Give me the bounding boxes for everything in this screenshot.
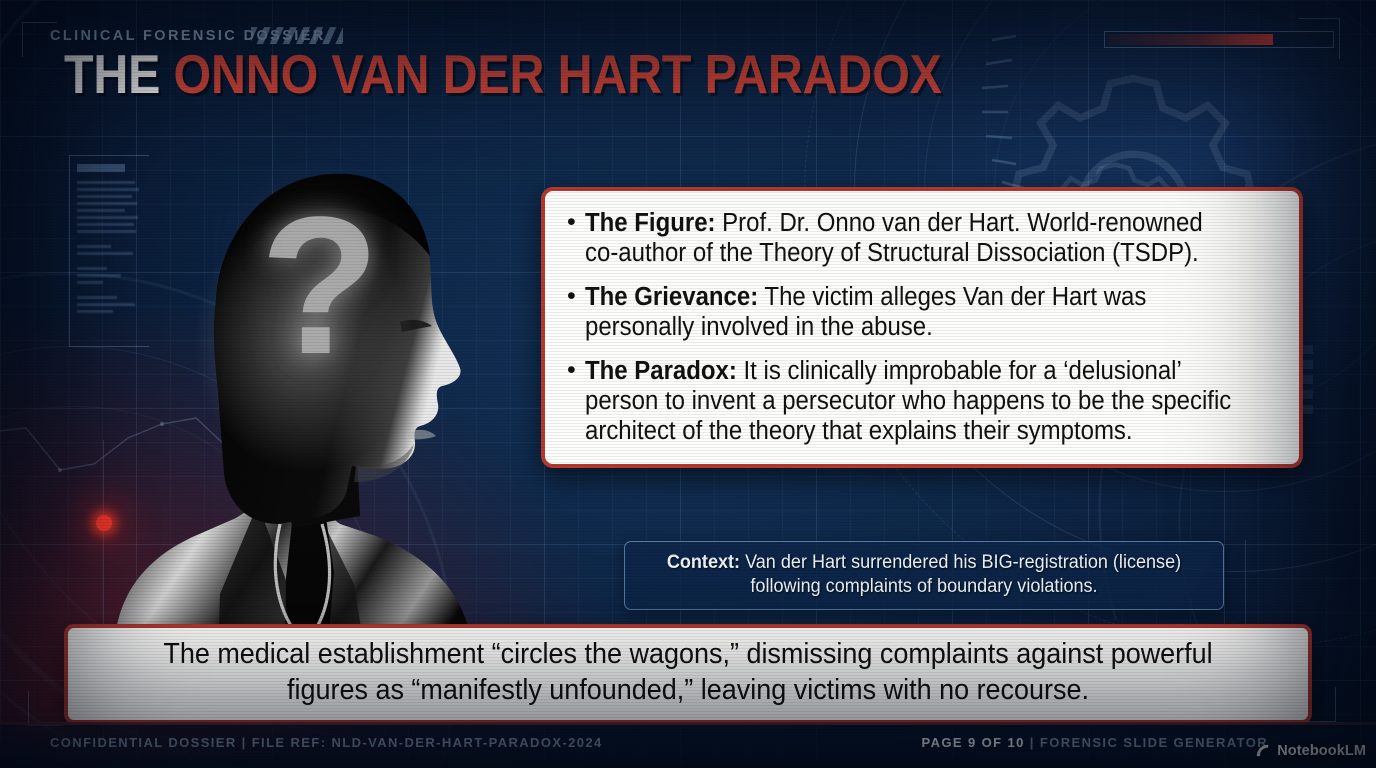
bullet-label: The Paradox: — [585, 357, 737, 385]
bullet-label: The Figure: — [585, 209, 716, 237]
bullet-item: • The Grievance: The victim alleges Van … — [567, 282, 1277, 342]
bullet-glyph: • — [567, 356, 576, 384]
corner-bracket-bottom-left — [28, 691, 63, 726]
notebooklm-watermark-label: NotebookLM — [1277, 743, 1366, 759]
red-beacon-indicator — [96, 515, 112, 531]
footer-page-info: PAGE 9 OF 10 | FORENSIC SLIDE GENERATOR — [922, 735, 1268, 750]
page-title: THE ONNO VAN DER HART PARADOX — [64, 46, 942, 102]
bullet-text: The Grievance: The victim alleges Van de… — [585, 282, 1236, 342]
context-text: Context: Van der Hart surrendered his BI… — [655, 551, 1193, 599]
footer-generator-label: FORENSIC SLIDE GENERATOR — [1040, 735, 1268, 750]
notebooklm-logo-icon — [1254, 742, 1271, 759]
corner-bracket-top-right — [1299, 18, 1340, 59]
bullet-glyph: • — [567, 208, 576, 236]
notebooklm-watermark: NotebookLM — [1254, 742, 1366, 759]
bullet-item: • The Paradox: It is clinically improbab… — [567, 356, 1277, 446]
hud-line-vertical-right-2 — [1245, 540, 1246, 630]
status-progress-fill — [1107, 34, 1273, 45]
page-title-white: THE — [64, 43, 174, 105]
conclusion-text: The medical establishment “circles the w… — [136, 637, 1241, 709]
bullet-glyph: • — [567, 282, 576, 310]
bullet-label: The Grievance: — [585, 283, 758, 311]
footer-page-number: PAGE 9 OF 10 — [922, 735, 1025, 750]
page-title-red: ONNO VAN DER HART PARADOX — [174, 43, 942, 105]
slide-root: ? Clinical Forensic Dossier THE ONNO VAN… — [0, 0, 1376, 768]
footer-file-reference: CONFIDENTIAL DOSSIER | FILE REF: NLD-VAN… — [50, 735, 603, 750]
doc-panel-header-bar — [77, 164, 125, 172]
context-callout-box: Context: Van der Hart surrendered his BI… — [624, 541, 1224, 610]
hud-tick-fan — [980, 24, 1100, 204]
decorative-document-panel — [69, 155, 149, 347]
bullet-text: The Figure: Prof. Dr. Onno van der Hart.… — [585, 208, 1236, 268]
status-progress-bar — [1104, 31, 1334, 48]
main-content-card: • The Figure: Prof. Dr. Onno van der Har… — [541, 187, 1303, 468]
bullet-item: • The Figure: Prof. Dr. Onno van der Har… — [567, 208, 1277, 268]
bullet-text: The Paradox: It is clinically improbable… — [585, 356, 1236, 446]
eyebrow-label: Clinical Forensic Dossier — [50, 28, 326, 44]
context-label: Context: — [667, 552, 740, 573]
footer-bar: CONFIDENTIAL DOSSIER | FILE REF: NLD-VAN… — [0, 722, 1376, 768]
question-mark-overlay: ? — [260, 188, 380, 384]
context-body: Van der Hart surrendered his BIG-registr… — [740, 552, 1181, 597]
hud-chart-trace — [0, 398, 230, 518]
conclusion-banner: The medical establishment “circles the w… — [64, 624, 1312, 724]
footer-separator: | — [1030, 735, 1035, 750]
